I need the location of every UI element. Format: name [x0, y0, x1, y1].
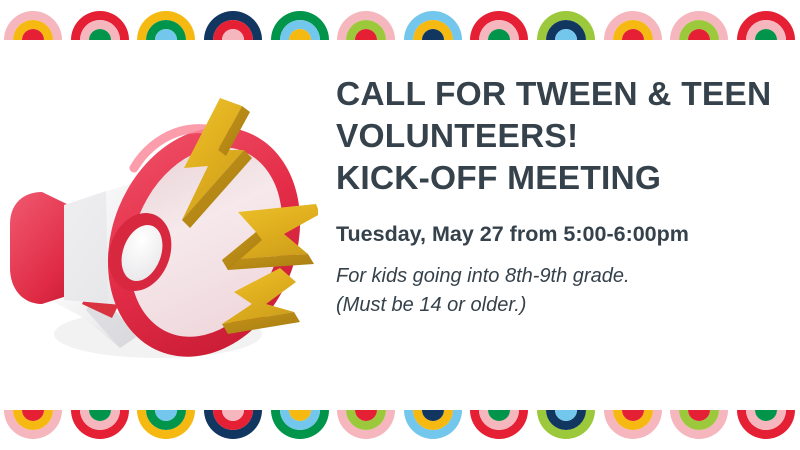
rainbow-arc: [333, 0, 400, 40]
rainbow-arc: [466, 0, 533, 40]
rainbow-arc: [67, 0, 134, 40]
rainbow-arc: [733, 0, 800, 40]
rainbow-arc: [599, 410, 666, 450]
rainbow-arc: [666, 410, 733, 450]
headline: CALL FOR TWEEN & TEEN VOLUNTEERS! KICK-O…: [336, 74, 786, 200]
poster-canvas: CALL FOR TWEEN & TEEN VOLUNTEERS! KICK-O…: [0, 0, 800, 450]
rainbow-arc: [266, 0, 333, 40]
rainbow-arc: [67, 410, 134, 450]
rainbow-arc: [266, 410, 333, 450]
headline-line-3: KICK-OFF MEETING: [336, 158, 786, 200]
rainbow-arc: [133, 0, 200, 40]
rainbow-arc: [666, 0, 733, 40]
eligibility-note-line-2: (Must be 14 or older.): [336, 291, 786, 320]
rainbow-arc: [400, 0, 467, 40]
poster-text-block: CALL FOR TWEEN & TEEN VOLUNTEERS! KICK-O…: [336, 74, 786, 320]
rainbow-arc: [333, 410, 400, 450]
event-datetime: Tuesday, May 27 from 5:00-6:00pm: [336, 220, 786, 248]
rainbow-arc: [733, 410, 800, 450]
megaphone-icon: [8, 72, 318, 382]
rainbow-arc: [200, 0, 267, 40]
rainbow-arc: [533, 410, 600, 450]
bottom-rainbow-border: [0, 410, 800, 450]
rainbow-arc: [466, 410, 533, 450]
top-rainbow-border: [0, 0, 800, 40]
headline-line-1: CALL FOR TWEEN & TEEN: [336, 74, 786, 116]
rainbow-arc: [200, 410, 267, 450]
eligibility-note-line-1: For kids going into 8th-9th grade.: [336, 262, 786, 291]
rainbow-arc: [599, 0, 666, 40]
eligibility-note: For kids going into 8th-9th grade. (Must…: [336, 262, 786, 320]
rainbow-arc: [133, 410, 200, 450]
rainbow-arc: [0, 410, 67, 450]
rainbow-arc: [400, 410, 467, 450]
rainbow-arc: [0, 0, 67, 40]
rainbow-arc: [533, 0, 600, 40]
headline-line-2: VOLUNTEERS!: [336, 116, 786, 158]
